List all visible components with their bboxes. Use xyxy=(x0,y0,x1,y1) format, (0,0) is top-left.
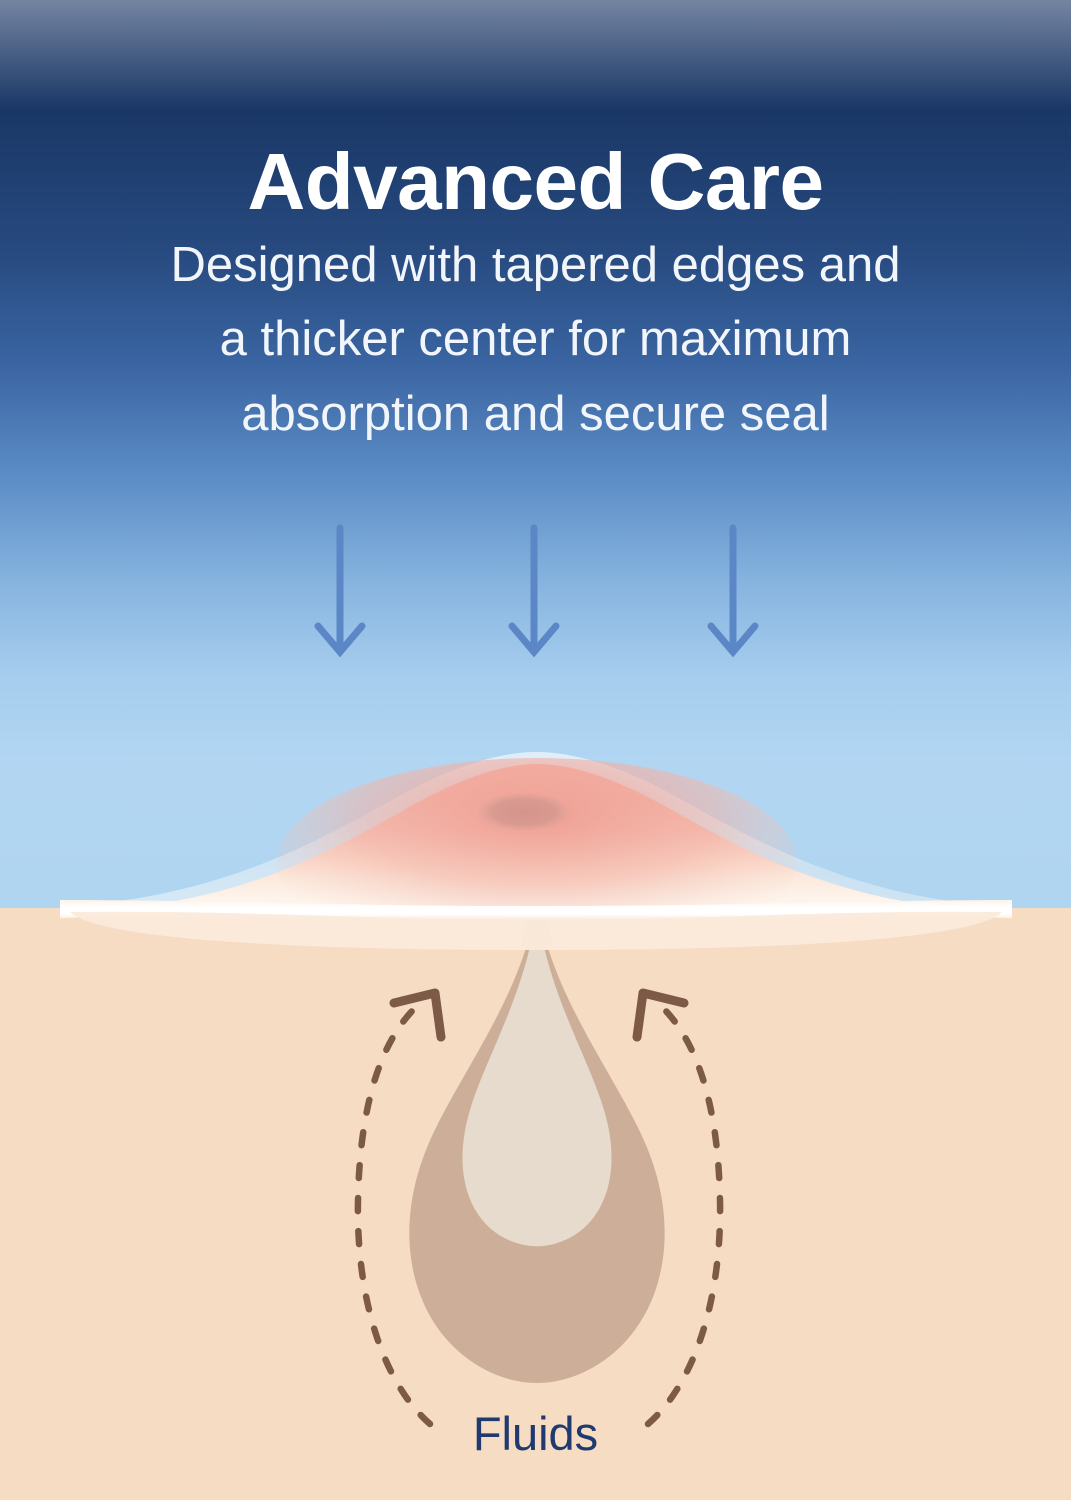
wound-spot xyxy=(478,793,570,831)
pressure-arrows-group xyxy=(318,528,755,652)
fluid-group xyxy=(409,888,664,1383)
arrow-down-icon xyxy=(318,528,362,652)
wound-dressing-diagram xyxy=(0,0,1071,1500)
fluids-label: Fluids xyxy=(0,1406,1071,1461)
fluid-inner-shape xyxy=(462,906,611,1246)
arrowhead xyxy=(394,993,441,1037)
arrow-down-icon xyxy=(711,528,755,652)
illustration-canvas: Advanced Care Designed with tapered edge… xyxy=(0,0,1071,1500)
arrow-down-icon xyxy=(512,528,556,652)
arrowhead xyxy=(637,993,684,1037)
